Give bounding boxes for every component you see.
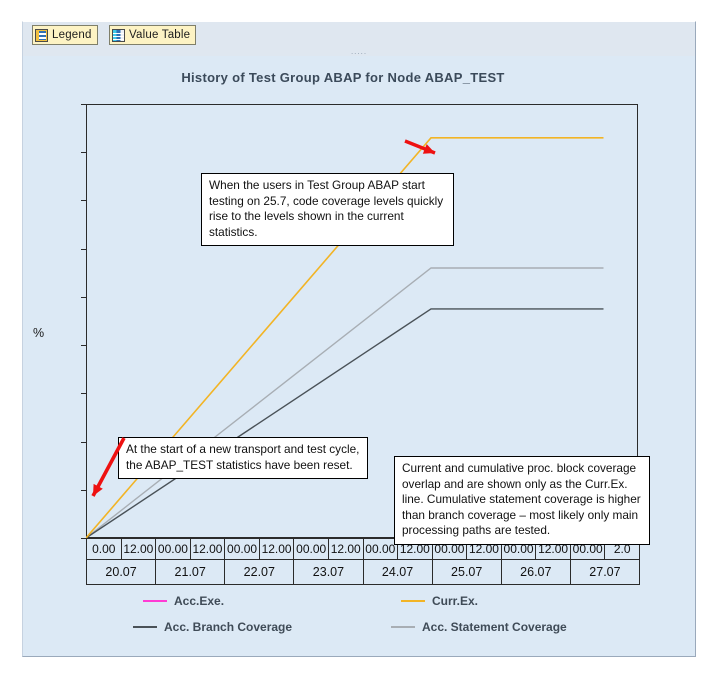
x-axis-date-cell: 25.07 <box>433 560 502 584</box>
x-axis-hour-cell: 12.00 <box>329 539 364 559</box>
x-axis-date-cell: 24.07 <box>364 560 433 584</box>
x-axis-hour-cell: 12.00 <box>122 539 157 559</box>
y-axis-tick-mark <box>81 152 86 153</box>
legend-label-acc-branch-coverage: Acc. Branch Coverage <box>164 620 292 634</box>
x-axis-hour-cell: 00.00 <box>225 539 260 559</box>
x-axis-date-cell: 21.07 <box>156 560 225 584</box>
x-axis-date-cell: 23.07 <box>294 560 363 584</box>
x-axis-date-cell: 27.07 <box>571 560 639 584</box>
chart-toolbar: Legend Value Table <box>22 21 696 50</box>
y-axis-tick-mark <box>81 345 86 346</box>
y-axis-tick-mark <box>81 200 86 201</box>
y-axis-tick-mark <box>81 297 86 298</box>
legend-swatch-curr-ex <box>401 600 425 602</box>
y-axis-tick-mark <box>81 249 86 250</box>
splitter-handle-dots: ..... <box>351 49 367 55</box>
legend-swatch-acc-statement-coverage <box>391 626 415 628</box>
x-axis: 0.0012.0000.0012.0000.0012.0000.0012.000… <box>86 538 640 586</box>
x-axis-hour-cell: 00.00 <box>294 539 329 559</box>
value-table-button-label: Value Table <box>129 29 190 41</box>
y-axis-tick-mark <box>81 104 86 105</box>
x-axis-hour-cell: 00.00 <box>156 539 191 559</box>
legend-icon <box>35 29 48 42</box>
chart-title: History of Test Group ABAP for Node ABAP… <box>23 70 663 85</box>
legend-item-acc-exe: Acc.Exe. <box>143 594 224 608</box>
legend-label-acc-statement-coverage: Acc. Statement Coverage <box>422 620 567 634</box>
x-axis-date-cell: 26.07 <box>502 560 571 584</box>
annotation-start-testing: When the users in Test Group ABAP start … <box>201 173 454 246</box>
y-axis-label: % <box>33 326 44 340</box>
x-axis-hour-cell: 12.00 <box>191 539 226 559</box>
x-axis-hour-cell: 00.00 <box>364 539 399 559</box>
value-table-icon <box>112 29 125 42</box>
value-table-button[interactable]: Value Table <box>109 25 196 45</box>
chart-window: Legend Value Table ..... History of Test… <box>0 0 718 680</box>
x-axis-hour-cell: 12.00 <box>260 539 295 559</box>
chart-legend: Acc.Exe. Curr.Ex. Acc. Branch Coverage A… <box>133 594 653 646</box>
x-axis-dates-row: 20.0721.0722.0723.0724.0725.0726.0727.07 <box>86 560 640 585</box>
legend-item-curr-ex: Curr.Ex. <box>401 594 478 608</box>
legend-item-acc-statement-coverage: Acc. Statement Coverage <box>391 620 567 634</box>
x-axis-date-cell: 20.07 <box>87 560 156 584</box>
y-axis-tick-mark <box>81 393 86 394</box>
legend-label-curr-ex: Curr.Ex. <box>432 594 478 608</box>
chart-panel: History of Test Group ABAP for Node ABAP… <box>22 56 696 657</box>
y-axis-tick-mark <box>81 442 86 443</box>
y-axis-tick-mark <box>81 490 86 491</box>
legend-item-acc-branch-coverage: Acc. Branch Coverage <box>133 620 292 634</box>
legend-label-acc-exe: Acc.Exe. <box>174 594 224 608</box>
legend-button-label: Legend <box>52 29 92 41</box>
x-axis-date-cell: 22.07 <box>225 560 294 584</box>
annotation-coverage-overlap: Current and cumulative proc. block cover… <box>394 456 650 545</box>
legend-swatch-acc-branch-coverage <box>133 626 157 628</box>
legend-swatch-acc-exe <box>143 600 167 602</box>
x-axis-hour-cell: 0.00 <box>87 539 122 559</box>
legend-button[interactable]: Legend <box>32 25 98 45</box>
annotation-statistics-reset: At the start of a new transport and test… <box>118 437 368 479</box>
